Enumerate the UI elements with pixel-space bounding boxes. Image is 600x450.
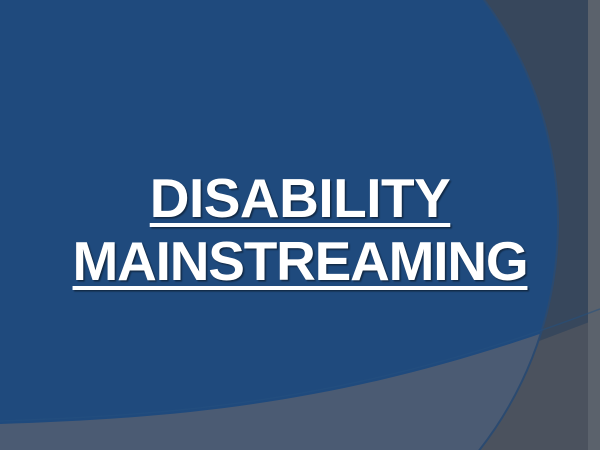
- presentation-slide: DISABILITY MAINSTREAMING: [0, 0, 600, 450]
- slide-background-graphic: [0, 0, 600, 450]
- background-right-edge-strip: [588, 0, 600, 450]
